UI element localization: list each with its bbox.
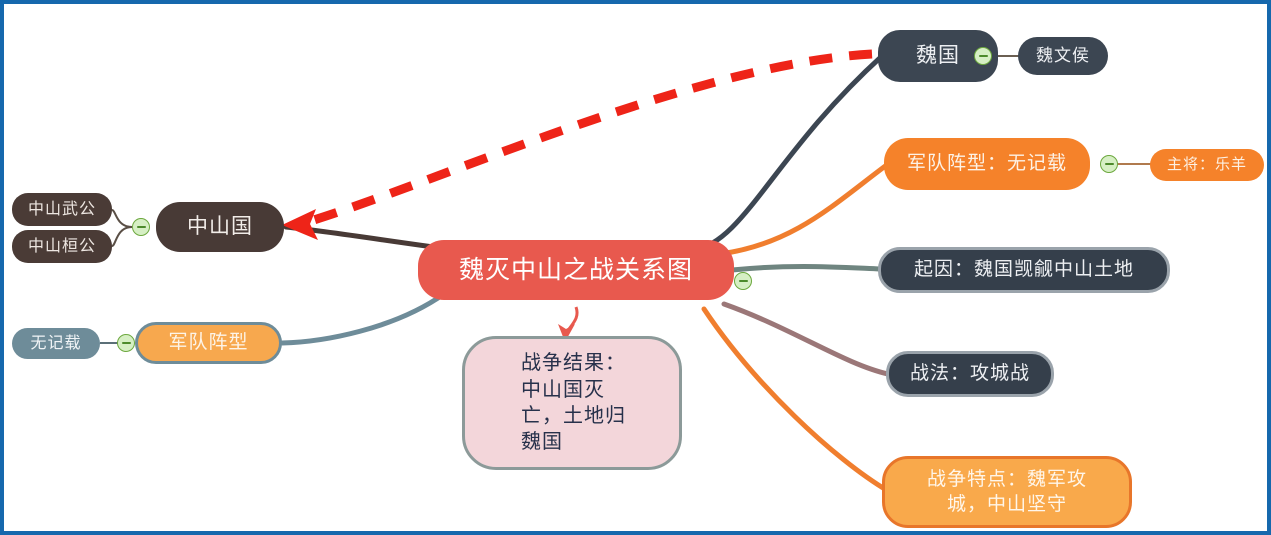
toggle-wei-guo[interactable]: [974, 47, 992, 65]
toggle-army-formation[interactable]: [117, 334, 135, 352]
node-cause-label: 起因：魏国觊觎中山土地: [914, 257, 1134, 282]
central-node[interactable]: 魏灭中山之战关系图: [418, 240, 734, 300]
node-war-result[interactable]: 战争结果： 中山国灭 亡，土地归 魏国: [462, 336, 682, 470]
attack-arrow-dashed: [304, 54, 872, 223]
node-army-formation-label: 军队阵型: [168, 330, 248, 355]
toggle-zhongshan-guo[interactable]: [132, 218, 150, 236]
result-arrow: [567, 307, 577, 332]
toggle-army-formation-none[interactable]: [1100, 155, 1118, 173]
node-tactics-label: 战法：攻城战: [910, 361, 1030, 386]
node-army-formation-none[interactable]: 军队阵型：无记载: [884, 138, 1090, 190]
node-zhongshan-guo[interactable]: 中山国: [156, 202, 284, 252]
node-army-formation[interactable]: 军队阵型: [135, 322, 282, 364]
node-zhongshan-wugong[interactable]: 中山武公: [12, 193, 112, 226]
node-no-record-label: 无记载: [30, 333, 81, 354]
node-wei-wen-hou[interactable]: 魏文侯: [1018, 37, 1108, 75]
node-war-features[interactable]: 战争特点：魏军攻 城，中山坚守: [882, 456, 1132, 528]
edge-zhongshan-to-huangong: [112, 227, 132, 246]
mindmap-canvas: 魏灭中山之战关系图 魏国 魏文侯 军队阵型：无记载 主将：乐羊 起因：魏国觊觎中…: [0, 0, 1271, 535]
node-tactics[interactable]: 战法：攻城战: [886, 351, 1054, 397]
node-cause[interactable]: 起因：魏国觊觎中山土地: [878, 247, 1170, 293]
node-war-features-label: 战争特点：魏军攻 城，中山坚守: [927, 467, 1087, 517]
edge-central-to-tactics: [724, 304, 888, 374]
edge-central-to-features: [704, 309, 888, 491]
edge-zhongshan-to-wugong: [112, 210, 132, 227]
edge-central-to-army-formation: [282, 294, 444, 343]
edge-central-to-weiguo: [694, 56, 882, 250]
node-zhongshan-huangong[interactable]: 中山桓公: [12, 230, 112, 263]
node-army-formation-none-label: 军队阵型：无记载: [907, 151, 1067, 176]
node-zhongshan-guo-label: 中山国: [187, 213, 253, 241]
toggle-central-right[interactable]: [734, 272, 752, 290]
edge-central-to-cause: [732, 266, 880, 270]
node-zhongshan-wugong-label: 中山武公: [28, 199, 96, 220]
node-no-record[interactable]: 无记载: [12, 328, 100, 359]
central-node-label: 魏灭中山之战关系图: [459, 254, 693, 287]
node-war-result-label: 战争结果： 中山国灭 亡，土地归 魏国: [521, 350, 626, 456]
node-chief-general-label: 主将：乐羊: [1167, 155, 1247, 175]
node-chief-general[interactable]: 主将：乐羊: [1150, 149, 1264, 181]
attack-arrow-head: [282, 209, 318, 240]
node-zhongshan-huangong-label: 中山桓公: [28, 236, 96, 257]
node-wei-guo-label: 魏国: [916, 42, 960, 70]
node-wei-wen-hou-label: 魏文侯: [1036, 45, 1090, 67]
edge-central-to-army-none: [720, 164, 888, 254]
